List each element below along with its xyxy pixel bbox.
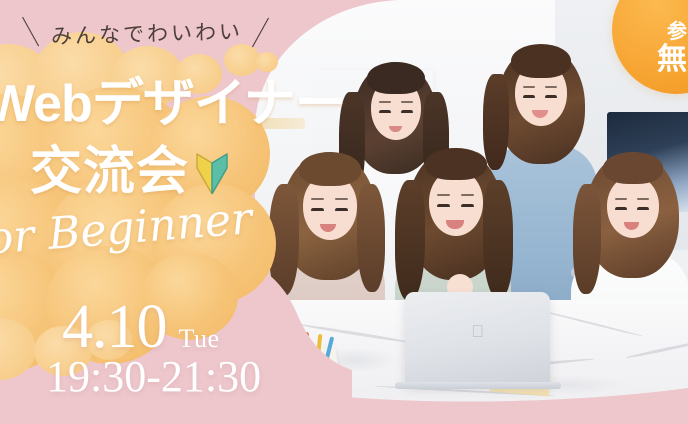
slash-right: ／ [243,10,281,54]
event-time: 19:30-21:30 [46,355,261,399]
event-date-row: 4.10 Tue [62,296,220,358]
badge-line-2: 無料 [633,44,688,76]
laptop:  [405,292,550,384]
event-date: 4.10 [62,296,167,358]
handwritten-tagline: ＼みんなでわいわい／ [18,12,298,52]
left-text-panel: ＼みんなでわいわい／ Webデザイナー 交流会 for Beginner 4.1… [0,0,330,424]
slash-left: ＼ [13,10,51,54]
event-banner:  参加 無料 [0,0,688,424]
badge-line-1: 参加 [643,15,688,44]
event-day-of-week: Tue [179,324,220,354]
headline-line-2-row: 交流会 [30,146,229,198]
headline-line-2: 交流会 [30,146,189,198]
beginner-leaf-icon [195,150,229,194]
headline-line-1: Webデザイナー [0,78,356,130]
handwritten-text: みんなでわいわい [47,15,248,50]
apple-logo-icon:  [470,323,485,341]
